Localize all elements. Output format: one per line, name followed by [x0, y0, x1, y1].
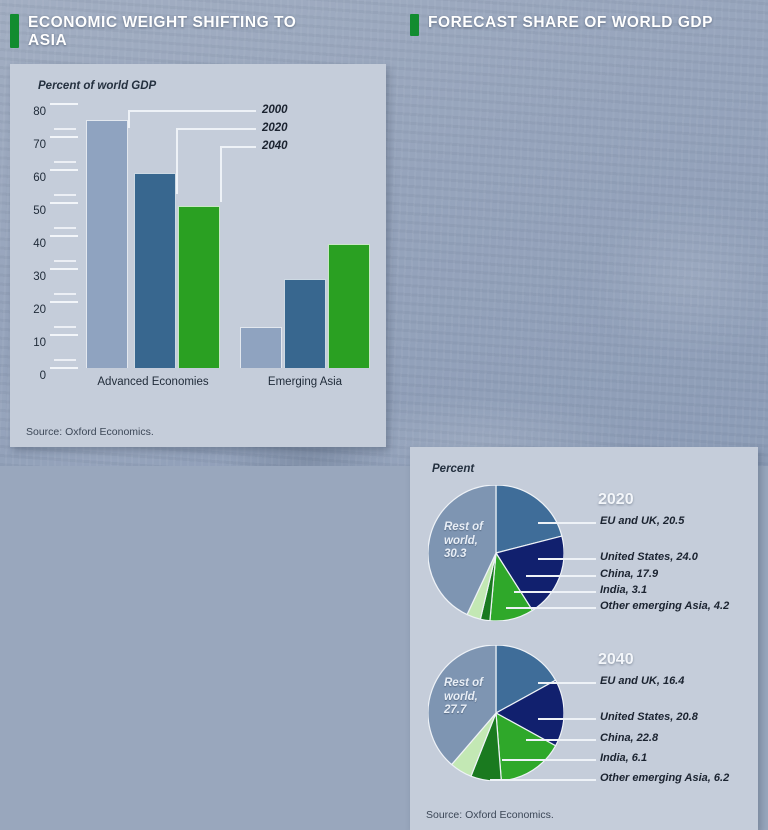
legend-label-2000: 2000 [262, 104, 288, 116]
right-panel-title: FORECAST SHARE OF WORLD GDP [428, 14, 713, 32]
bar-chart-axis-note: Percent of world GDP [38, 80, 156, 92]
x-axis-label-emerging-asia: Emerging Asia [268, 376, 342, 388]
y-axis-label-20: 20 [24, 304, 46, 316]
y-axis-label-50: 50 [24, 205, 46, 217]
legend-label-2020: 2020 [262, 122, 288, 134]
pie-2040-svg [428, 645, 564, 781]
callout-line-2040-china [526, 739, 596, 741]
y-tick-minor-45 [54, 227, 76, 229]
callout-line-2020-other [506, 607, 596, 609]
y-tick-80 [50, 103, 78, 105]
pie-chart-unit-note: Percent [432, 463, 474, 475]
bar-emerging-2000 [240, 327, 282, 368]
right-source-note: Source: Oxford Economics. [426, 809, 554, 821]
y-tick-30 [50, 268, 78, 270]
pie-charts-card: Percent Rest of world, 30.3 [410, 447, 758, 830]
pie-2020-legend-other: Other emerging Asia, 4.2 [600, 600, 729, 612]
pie-2040-legend-other: Other emerging Asia, 6.2 [600, 772, 729, 784]
pie-2020-year-heading: 2020 [598, 491, 634, 509]
callout-line-2020-us [538, 558, 596, 560]
legend-label-2040: 2040 [262, 140, 288, 152]
leader-line-2020 [176, 128, 256, 130]
pie-2040-year-heading: 2040 [598, 651, 634, 669]
y-axis-label-0: 0 [24, 370, 46, 382]
y-tick-60 [50, 169, 78, 171]
callout-line-2040-india [502, 759, 596, 761]
pie-2040-legend-eu: EU and UK, 16.4 [600, 675, 684, 687]
y-axis-label-10: 10 [24, 337, 46, 349]
y-tick-minor-75 [54, 128, 76, 130]
leader-drop-2040 [220, 146, 222, 202]
y-tick-40 [50, 235, 78, 237]
y-tick-minor-35 [54, 260, 76, 262]
left-source-note: Source: Oxford Economics. [26, 426, 154, 438]
y-tick-minor-25 [54, 293, 76, 295]
pie-chart-2020: Rest of world, 30.3 [428, 485, 564, 621]
pie-2020-legend-us: United States, 24.0 [600, 551, 698, 563]
pie-2020-legend-china: China, 17.9 [600, 568, 658, 580]
y-axis-label-60: 60 [24, 172, 46, 184]
y-tick-20 [50, 301, 78, 303]
bar-chart-card: Percent of world GDP 80 70 60 50 40 30 2… [10, 64, 386, 447]
y-tick-minor-55 [54, 194, 76, 196]
y-axis-label-30: 30 [24, 271, 46, 283]
pie-2040-legend-india: India, 6.1 [600, 752, 647, 764]
bar-chart-plot: 80 70 60 50 40 30 20 10 0 2000 2020 [24, 104, 372, 404]
y-axis-label-80: 80 [24, 106, 46, 118]
leader-line-2000 [128, 110, 256, 112]
pie-2040-legend-us: United States, 20.8 [600, 711, 698, 723]
y-tick-70 [50, 136, 78, 138]
bar-advanced-2020 [134, 173, 176, 368]
callout-line-2020-eu [538, 522, 596, 524]
pie-chart-2040: Rest of world, 27.7 [428, 645, 564, 781]
y-axis-label-40: 40 [24, 238, 46, 250]
y-tick-50 [50, 202, 78, 204]
y-tick-minor-5 [54, 359, 76, 361]
bar-emerging-2020 [284, 279, 326, 368]
left-panel-title: ECONOMIC WEIGHT SHIFTING TO ASIA [28, 14, 328, 51]
accent-bar-icon [410, 14, 419, 36]
x-axis-label-advanced-economies: Advanced Economies [97, 376, 208, 388]
left-panel-header: ECONOMIC WEIGHT SHIFTING TO ASIA [10, 14, 390, 51]
pie-2040-legend-china: China, 22.8 [600, 732, 658, 744]
y-tick-0 [50, 367, 78, 369]
callout-line-2040-us [538, 718, 596, 720]
y-axis-label-70: 70 [24, 139, 46, 151]
leader-drop-2020 [176, 128, 178, 194]
pie-2020-svg [428, 485, 564, 621]
callout-line-2020-china [526, 575, 596, 577]
callout-line-2020-india [514, 591, 596, 593]
callout-line-2040-eu [538, 682, 596, 684]
pie-2020-legend-india: India, 3.1 [600, 584, 647, 596]
leader-drop-2000 [128, 110, 130, 128]
bar-emerging-2040 [328, 244, 370, 368]
accent-bar-icon [10, 14, 19, 48]
pie-2020-legend-eu: EU and UK, 20.5 [600, 515, 684, 527]
leader-line-2040 [220, 146, 256, 148]
y-tick-10 [50, 334, 78, 336]
bar-advanced-2000 [86, 120, 128, 368]
bar-advanced-2040 [178, 206, 220, 368]
y-tick-minor-15 [54, 326, 76, 328]
y-tick-minor-65 [54, 161, 76, 163]
callout-line-2040-other [490, 779, 596, 781]
right-panel-header: FORECAST SHARE OF WORLD GDP [410, 14, 760, 36]
